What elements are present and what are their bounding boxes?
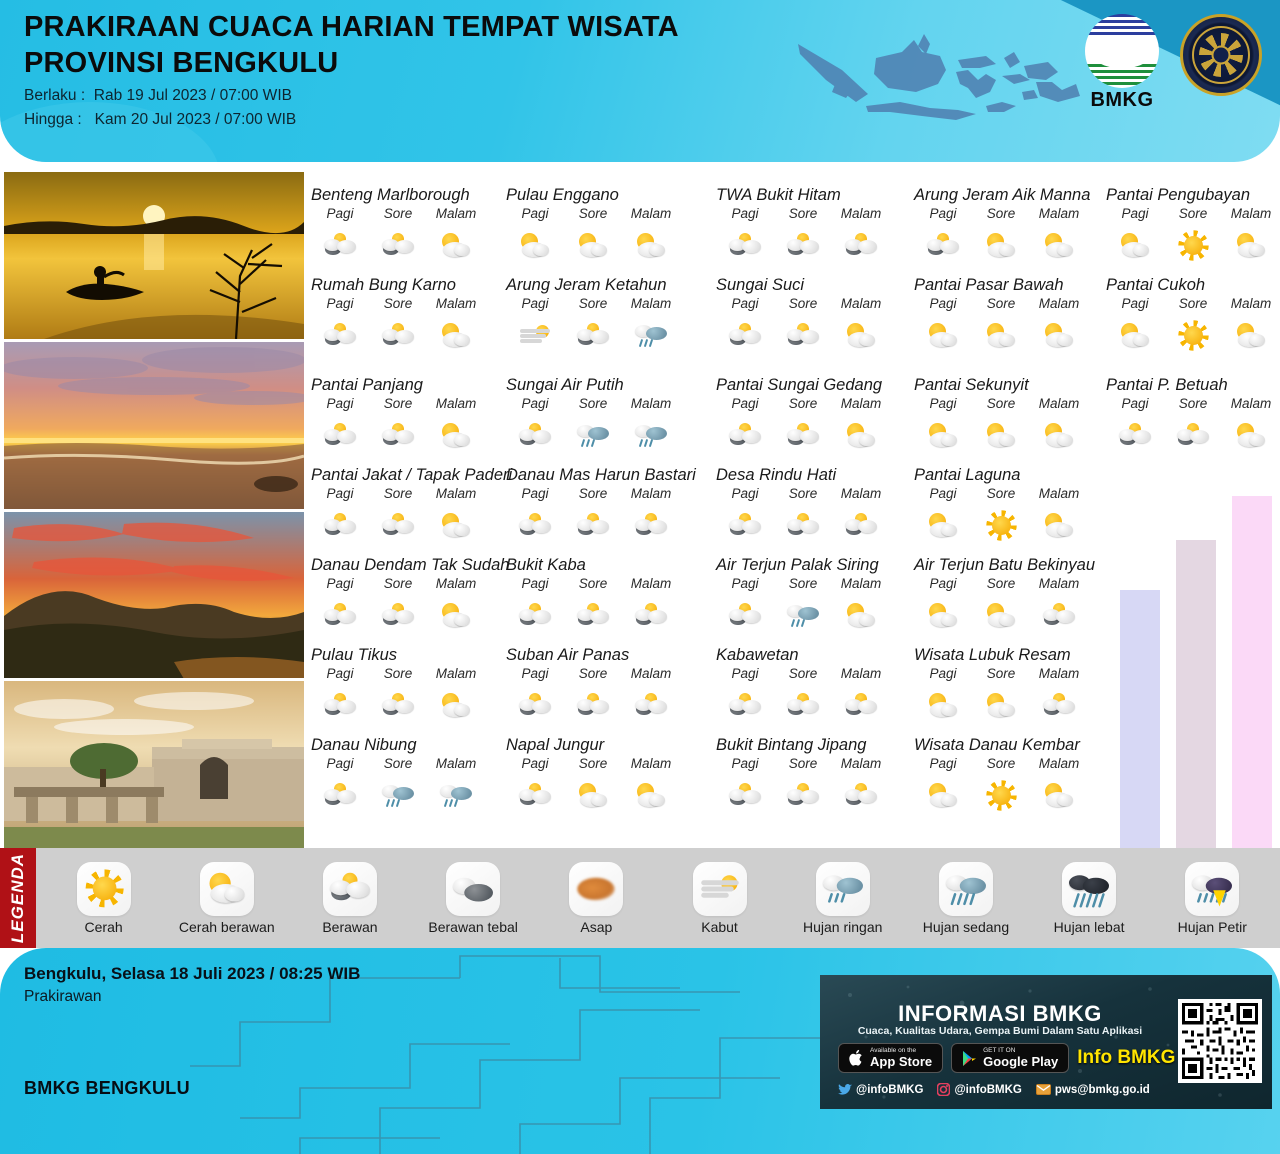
berawan-icon xyxy=(574,691,612,721)
instagram-icon xyxy=(937,1083,950,1096)
berawan-icon xyxy=(321,601,359,631)
forecast-location: Rumah Bung KarnoPagiSoreMalam xyxy=(311,276,511,353)
period-label-sore: Sore xyxy=(564,296,622,311)
period-label-pagi: Pagi xyxy=(506,206,564,221)
berawan-icon xyxy=(842,781,880,811)
hujan-ringan-icon xyxy=(379,781,417,811)
period-label-sore: Sore xyxy=(564,396,622,411)
forecast-icon-cell xyxy=(564,689,622,723)
legend-label: Cerah xyxy=(85,919,123,935)
forecast-icon-cell xyxy=(1222,319,1280,353)
cerah-berawan-icon xyxy=(982,321,1020,351)
cerah-berawan-icon xyxy=(1040,321,1078,351)
forecast-location: Arung Jeram KetahunPagiSoreMalam xyxy=(506,276,721,353)
forecast-icon-cell xyxy=(369,779,427,813)
cerah-berawan-icon xyxy=(516,231,554,261)
berawan-icon xyxy=(379,601,417,631)
period-label-sore: Sore xyxy=(1164,296,1222,311)
forecast-icon-cell xyxy=(369,509,427,543)
forecast-location: Desa Rindu HatiPagiSoreMalam xyxy=(716,466,916,543)
berawan-icon xyxy=(784,781,822,811)
instagram-handle-label: @infoBMKG xyxy=(954,1084,1021,1096)
forecast-icon-cell xyxy=(774,779,832,813)
period-label-sore: Sore xyxy=(369,206,427,221)
email-contact[interactable]: pws@bmkg.go.id xyxy=(1036,1084,1150,1096)
period-label-sore: Sore xyxy=(564,486,622,501)
cerah-berawan-icon xyxy=(924,511,962,541)
legend-items: CerahCerah berawanBerawanBerawan tebalAs… xyxy=(36,862,1280,935)
forecast-icon-cell xyxy=(716,689,774,723)
forecast-icons xyxy=(716,509,916,543)
location-name: Suban Air Panas xyxy=(506,646,721,665)
cerah-berawan-icon xyxy=(437,691,475,721)
cerah-berawan-icon xyxy=(1040,781,1078,811)
period-labels: PagiSoreMalam xyxy=(506,206,721,221)
period-label-pagi: Pagi xyxy=(506,486,564,501)
legend-label: Berawan tebal xyxy=(428,919,518,935)
period-labels: PagiSoreMalam xyxy=(716,396,916,411)
berawan-icon xyxy=(632,601,670,631)
period-label-sore: Sore xyxy=(972,756,1030,771)
legend-label: Kabut xyxy=(701,919,738,935)
berawan-icon xyxy=(842,511,880,541)
google-play-label: Google Play xyxy=(983,1055,1058,1069)
forecast-icon-cell xyxy=(1030,599,1088,633)
legend-label: Hujan ringan xyxy=(803,919,882,935)
hujan-ringan-icon xyxy=(632,321,670,351)
forecast-icons xyxy=(716,319,916,353)
location-name: Pulau Enggano xyxy=(506,186,721,205)
forecast-icon-cell xyxy=(369,229,427,263)
cerah-berawan-icon xyxy=(1040,421,1078,451)
period-label-malam: Malam xyxy=(427,206,485,221)
forecast-icons xyxy=(1106,419,1280,453)
period-labels: PagiSoreMalam xyxy=(506,756,721,771)
cerah-icon xyxy=(982,781,1020,811)
cerah-berawan-icon xyxy=(1116,321,1154,351)
period-label-pagi: Pagi xyxy=(716,756,774,771)
forecast-location: Suban Air PanasPagiSoreMalam xyxy=(506,646,721,723)
forecast-icon-cell xyxy=(914,419,972,453)
period-label-pagi: Pagi xyxy=(506,666,564,681)
berawan-icon xyxy=(321,231,359,261)
forecast-icon-cell xyxy=(427,229,485,263)
forecast-column-1: Benteng MarlboroughPagiSoreMalamRumah Bu… xyxy=(311,172,511,848)
period-label-malam: Malam xyxy=(1030,666,1088,681)
legend-item-hujan-sedang: Hujan sedang xyxy=(910,862,1022,935)
period-label-pagi: Pagi xyxy=(506,396,564,411)
valid-from-text: Berlaku : Rab 19 Jul 2023 / 07:00 WIB xyxy=(24,84,296,108)
forecast-icon-cell xyxy=(564,779,622,813)
forecast-icons xyxy=(506,599,721,633)
forecast-location: Wisata Lubuk ResamPagiSoreMalam xyxy=(914,646,1114,723)
forecast-location: Pantai PengubayanPagiSoreMalam xyxy=(1106,186,1280,263)
berawan-icon xyxy=(784,511,822,541)
infobmkg-app-banner[interactable]: INFORMASI BMKG Cuaca, Kualitas Udara, Ge… xyxy=(820,975,1272,1109)
period-label-pagi: Pagi xyxy=(716,486,774,501)
twitter-handle[interactable]: @infoBMKG xyxy=(838,1084,923,1096)
berawan-icon xyxy=(632,511,670,541)
forecast-icon-cell xyxy=(832,419,890,453)
berawan-icon xyxy=(516,421,554,451)
cerah-berawan-icon xyxy=(574,781,612,811)
period-label-malam: Malam xyxy=(622,756,680,771)
legend-tab-label: LEGENDA xyxy=(8,853,28,943)
forecast-location: Pantai SekunyitPagiSoreMalam xyxy=(914,376,1114,453)
forecast-icons xyxy=(914,419,1114,453)
forecast-icon-cell xyxy=(1106,419,1164,453)
valid-to-text: Hingga : Kam 20 Jul 2023 / 07:00 WIB xyxy=(24,108,296,132)
forecast-icon-cell xyxy=(832,599,890,633)
promo-title: INFORMASI BMKG xyxy=(820,1001,1180,1027)
forecast-icons xyxy=(506,319,721,353)
forecast-location: Pantai PanjangPagiSoreMalam xyxy=(311,376,511,453)
forecast-icon-cell xyxy=(427,509,485,543)
forecast-icon-cell xyxy=(311,599,369,633)
period-label-sore: Sore xyxy=(774,486,832,501)
forecast-icon-cell xyxy=(832,319,890,353)
location-name: Kabawetan xyxy=(716,646,916,665)
period-label-malam: Malam xyxy=(427,486,485,501)
dinas-pariwisata-seal-icon xyxy=(1180,14,1262,96)
period-labels: PagiSoreMalam xyxy=(716,756,916,771)
forecast-icons xyxy=(1106,319,1280,353)
berawan-icon xyxy=(321,511,359,541)
forecast-icon-cell xyxy=(427,319,485,353)
forecast-icons xyxy=(914,689,1114,723)
legend-icon-tile xyxy=(939,862,993,916)
period-labels: PagiSoreMalam xyxy=(1106,296,1280,311)
forecast-icon-cell xyxy=(369,689,427,723)
legend-tab: LEGENDA xyxy=(0,848,36,948)
location-name: Sungai Suci xyxy=(716,276,916,295)
forecast-icon-cell xyxy=(832,229,890,263)
page-title-line2: PROVINSI BENGKULU xyxy=(24,46,784,82)
period-label-sore: Sore xyxy=(774,396,832,411)
overlay-bar-2 xyxy=(1176,540,1216,848)
berawan-icon xyxy=(924,231,962,261)
forecast-icon-cell xyxy=(506,779,564,813)
forecast-icon-cell xyxy=(972,599,1030,633)
cerah-berawan-icon xyxy=(1232,421,1270,451)
footer-office: BMKG BENGKULU xyxy=(24,1078,190,1099)
berawan-icon xyxy=(1174,421,1212,451)
period-label-malam: Malam xyxy=(1030,756,1088,771)
period-label-pagi: Pagi xyxy=(914,666,972,681)
forecast-icons xyxy=(311,509,511,543)
forecast-icon-cell xyxy=(832,779,890,813)
period-label-sore: Sore xyxy=(1164,206,1222,221)
forecast-location: Air Terjun Batu BekinyauPagiSoreMalam xyxy=(914,556,1114,633)
berawan-icon xyxy=(1040,691,1078,721)
cerah-berawan-icon xyxy=(924,691,962,721)
period-labels: PagiSoreMalam xyxy=(914,756,1114,771)
forecast-icon-cell xyxy=(914,229,972,263)
forecast-icon-cell xyxy=(564,509,622,543)
forecast-icons xyxy=(311,779,511,813)
period-label-pagi: Pagi xyxy=(506,296,564,311)
mountain-sunset-photo xyxy=(4,512,304,679)
cerah-berawan-icon xyxy=(982,421,1020,451)
period-label-malam: Malam xyxy=(427,666,485,681)
cerah-berawan-icon xyxy=(574,231,612,261)
berawan-icon xyxy=(379,691,417,721)
period-label-malam: Malam xyxy=(832,296,890,311)
berawan-icon xyxy=(726,601,764,631)
period-label-sore: Sore xyxy=(972,576,1030,591)
period-label-pagi: Pagi xyxy=(506,576,564,591)
period-label-malam: Malam xyxy=(832,486,890,501)
forecast-location: Sungai Air PutihPagiSoreMalam xyxy=(506,376,721,453)
forecast-icon-cell xyxy=(832,689,890,723)
store-badges: Available on the App Store GET IT ON Goo… xyxy=(838,1043,1175,1073)
berawan-icon xyxy=(574,511,612,541)
location-name: Air Terjun Batu Bekinyau xyxy=(914,556,1114,575)
app-store-badge[interactable]: Available on the App Store xyxy=(838,1043,943,1073)
period-label-pagi: Pagi xyxy=(311,396,369,411)
location-name: Rumah Bung Karno xyxy=(311,276,511,295)
overlay-bar-3 xyxy=(1232,496,1272,848)
period-label-pagi: Pagi xyxy=(716,396,774,411)
forecast-icon-cell xyxy=(506,419,564,453)
forecast-location: Benteng MarlboroughPagiSoreMalam xyxy=(311,186,511,263)
forecast-column-3: TWA Bukit HitamPagiSoreMalamSungai SuciP… xyxy=(716,172,916,848)
cerah-berawan-icon xyxy=(203,870,251,908)
qr-code[interactable] xyxy=(1178,999,1262,1083)
period-label-sore: Sore xyxy=(774,576,832,591)
period-labels: PagiSoreMalam xyxy=(506,296,721,311)
berawan-icon xyxy=(516,781,554,811)
forecast-icon-cell xyxy=(427,599,485,633)
period-label-sore: Sore xyxy=(564,206,622,221)
location-name: Wisata Danau Kembar xyxy=(914,736,1114,755)
period-label-sore: Sore xyxy=(774,206,832,221)
period-label-pagi: Pagi xyxy=(914,296,972,311)
period-label-malam: Malam xyxy=(1222,206,1280,221)
legend-icon-tile xyxy=(446,862,500,916)
forecast-icon-cell xyxy=(427,419,485,453)
period-label-sore: Sore xyxy=(369,296,427,311)
location-name: Benteng Marlborough xyxy=(311,186,511,205)
period-label-pagi: Pagi xyxy=(1106,206,1164,221)
berawan-icon xyxy=(784,691,822,721)
period-label-malam: Malam xyxy=(622,296,680,311)
forecast-icons xyxy=(506,419,721,453)
period-labels: PagiSoreMalam xyxy=(311,486,511,501)
berawan-icon xyxy=(1116,421,1154,451)
period-label-malam: Malam xyxy=(622,396,680,411)
hujan-petir-icon xyxy=(1189,870,1237,908)
forecast-location: Pantai P. BetuahPagiSoreMalam xyxy=(1106,376,1280,453)
google-play-badge[interactable]: GET IT ON Google Play xyxy=(951,1043,1069,1073)
berawan-icon xyxy=(379,321,417,351)
period-label-pagi: Pagi xyxy=(914,756,972,771)
berawan-icon xyxy=(379,231,417,261)
period-label-pagi: Pagi xyxy=(716,666,774,681)
email-label: pws@bmkg.go.id xyxy=(1055,1084,1150,1096)
legend-label: Hujan Petir xyxy=(1178,919,1247,935)
forecast-icon-cell xyxy=(914,599,972,633)
forecast-icon-cell xyxy=(716,229,774,263)
legend-label: Asap xyxy=(580,919,612,935)
period-label-malam: Malam xyxy=(832,206,890,221)
cerah-berawan-icon xyxy=(437,511,475,541)
forecast-icon-cell xyxy=(774,419,832,453)
period-label-malam: Malam xyxy=(1030,206,1088,221)
period-label-malam: Malam xyxy=(1030,576,1088,591)
legend-bar: LEGENDA CerahCerah berawanBerawanBerawan… xyxy=(0,848,1280,948)
berawan-icon xyxy=(379,421,417,451)
location-name: Sungai Air Putih xyxy=(506,376,721,395)
legend-icon-tile xyxy=(200,862,254,916)
forecast-icon-cell xyxy=(506,509,564,543)
legend-icon-tile xyxy=(693,862,747,916)
cerah-berawan-icon xyxy=(842,601,880,631)
berawan-icon xyxy=(516,601,554,631)
period-label-malam: Malam xyxy=(427,576,485,591)
location-name: Danau Nibung xyxy=(311,736,511,755)
cerah-berawan-icon xyxy=(1116,231,1154,261)
forecast-column-4: Arung Jeram Aik MannaPagiSoreMalamPantai… xyxy=(914,172,1114,848)
period-label-pagi: Pagi xyxy=(914,486,972,501)
bmkg-logo-text: BMKG xyxy=(1078,89,1166,112)
period-label-sore: Sore xyxy=(369,666,427,681)
apple-icon xyxy=(849,1049,864,1067)
period-label-sore: Sore xyxy=(369,486,427,501)
period-label-sore: Sore xyxy=(774,756,832,771)
validity-period: Berlaku : Rab 19 Jul 2023 / 07:00 WIB Hi… xyxy=(24,84,296,132)
location-name: Pantai Sungai Gedang xyxy=(716,376,916,395)
forecast-icon-cell xyxy=(1030,319,1088,353)
app-name-label: Info BMKG xyxy=(1077,1047,1175,1069)
legend-item-asap: Asap xyxy=(540,862,652,935)
forecast-location: Wisata Danau KembarPagiSoreMalam xyxy=(914,736,1114,813)
forecast-icon-cell xyxy=(832,509,890,543)
footer-role: Prakirawan xyxy=(24,988,102,1006)
forecast-location: Air Terjun Palak SiringPagiSoreMalam xyxy=(716,556,916,633)
location-name: Bukit Kaba xyxy=(506,556,721,575)
period-label-malam: Malam xyxy=(622,486,680,501)
period-labels: PagiSoreMalam xyxy=(914,576,1114,591)
period-label-malam: Malam xyxy=(1222,296,1280,311)
location-name: Pantai Pengubayan xyxy=(1106,186,1280,205)
forecast-location: Arung Jeram Aik MannaPagiSoreMalam xyxy=(914,186,1114,263)
forecast-icon-cell xyxy=(1164,419,1222,453)
berawan-icon xyxy=(726,781,764,811)
cerah-icon xyxy=(80,870,128,908)
forecast-icon-cell xyxy=(1106,229,1164,263)
period-labels: PagiSoreMalam xyxy=(311,396,511,411)
forecast-location: Pantai Jakat / Tapak PaderiPagiSoreMalam xyxy=(311,466,511,543)
footer-datetime: Bengkulu, Selasa 18 Juli 2023 / 08:25 WI… xyxy=(24,964,360,984)
forecast-icon-cell xyxy=(914,509,972,543)
forecast-icon-cell xyxy=(1030,229,1088,263)
period-label-malam: Malam xyxy=(1030,296,1088,311)
forecast-icon-cell xyxy=(622,779,680,813)
social-links: @infoBMKG @infoBMKG pws@bmkg.go.id xyxy=(838,1083,1150,1096)
forecast-icon-cell xyxy=(774,509,832,543)
cerah-berawan-icon xyxy=(1232,231,1270,261)
period-label-pagi: Pagi xyxy=(311,576,369,591)
cerah-icon xyxy=(1174,231,1212,261)
legend-icon-tile xyxy=(569,862,623,916)
cerah-berawan-icon xyxy=(842,321,880,351)
period-labels: PagiSoreMalam xyxy=(1106,396,1280,411)
berawan-icon xyxy=(726,321,764,351)
berawan-icon xyxy=(784,421,822,451)
cerah-berawan-icon xyxy=(437,601,475,631)
berawan-icon xyxy=(574,321,612,351)
location-name: Pantai P. Betuah xyxy=(1106,376,1280,395)
asap-icon xyxy=(573,870,621,908)
forecast-location: Pantai Pasar BawahPagiSoreMalam xyxy=(914,276,1114,353)
cerah-berawan-icon xyxy=(982,601,1020,631)
kabut-icon xyxy=(516,321,554,351)
hujan-ringan-icon xyxy=(574,421,612,451)
app-store-small-label: Available on the xyxy=(870,1048,932,1055)
period-label-pagi: Pagi xyxy=(914,396,972,411)
forecast-location: Danau Dendam Tak SudahPagiSoreMalam xyxy=(311,556,511,633)
forecast-icon-cell xyxy=(774,319,832,353)
berawan-icon xyxy=(784,231,822,261)
location-name: Desa Rindu Hati xyxy=(716,466,916,485)
forecast-icons xyxy=(506,779,721,813)
period-label-pagi: Pagi xyxy=(716,296,774,311)
promo-subtitle: Cuaca, Kualitas Udara, Gempa Bumi Dalam … xyxy=(820,1025,1180,1037)
cerah-berawan-icon xyxy=(924,421,962,451)
berawan-icon xyxy=(321,691,359,721)
forecast-icon-cell xyxy=(716,599,774,633)
period-label-sore: Sore xyxy=(972,206,1030,221)
twitter-handle-label: @infoBMKG xyxy=(856,1084,923,1096)
page-footer: Bengkulu, Selasa 18 Juli 2023 / 08:25 WI… xyxy=(0,948,1280,1154)
legend-item-hujan-petir: Hujan Petir xyxy=(1156,862,1268,935)
forecast-icon-cell xyxy=(427,779,485,813)
forecast-icons xyxy=(914,509,1114,543)
period-label-malam: Malam xyxy=(832,396,890,411)
fort-marlborough-photo xyxy=(4,681,304,848)
period-labels: PagiSoreMalam xyxy=(311,756,511,771)
page-title-line1: PRAKIRAAN CUACA HARIAN TEMPAT WISATA xyxy=(24,10,784,46)
period-label-malam: Malam xyxy=(832,756,890,771)
legend-item-berawan: Berawan xyxy=(294,862,406,935)
pastel-bar-overlay xyxy=(1112,488,1280,848)
instagram-handle[interactable]: @infoBMKG xyxy=(937,1083,1021,1096)
period-labels: PagiSoreMalam xyxy=(914,486,1114,501)
period-label-pagi: Pagi xyxy=(311,666,369,681)
legend-item-hujan-ringan: Hujan ringan xyxy=(787,862,899,935)
forecast-location: KabawetanPagiSoreMalam xyxy=(716,646,916,723)
forecast-location: Bukit KabaPagiSoreMalam xyxy=(506,556,721,633)
period-label-malam: Malam xyxy=(622,206,680,221)
berawan-icon xyxy=(379,511,417,541)
period-label-pagi: Pagi xyxy=(311,756,369,771)
forecast-icons xyxy=(914,319,1114,353)
forecast-icon-cell xyxy=(311,229,369,263)
berawan-icon xyxy=(726,691,764,721)
bmkg-logo: BMKG xyxy=(1078,14,1166,112)
period-labels: PagiSoreMalam xyxy=(506,666,721,681)
legend-item-kabut: Kabut xyxy=(664,862,776,935)
forecast-icon-cell xyxy=(774,229,832,263)
period-label-malam: Malam xyxy=(832,666,890,681)
forecast-icon-cell xyxy=(622,509,680,543)
forecast-icon-cell xyxy=(622,599,680,633)
location-name: Bukit Bintang Jipang xyxy=(716,736,916,755)
period-label-malam: Malam xyxy=(622,576,680,591)
forecast-icon-cell xyxy=(622,689,680,723)
period-label-sore: Sore xyxy=(564,576,622,591)
